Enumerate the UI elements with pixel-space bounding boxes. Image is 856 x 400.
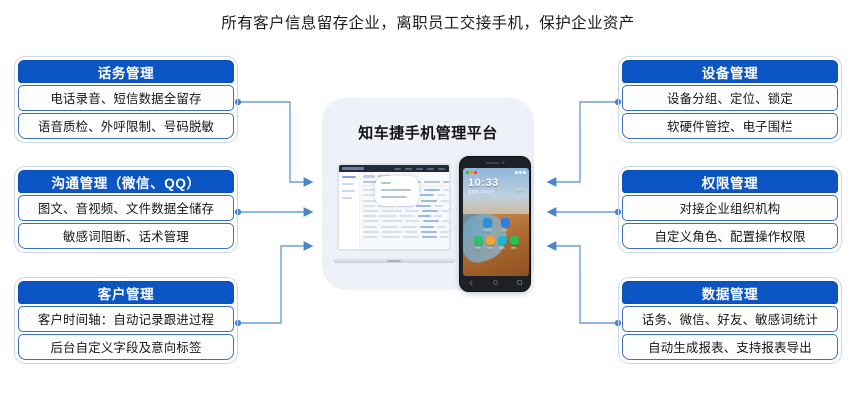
app-browser[interactable]: 浏览器: [483, 218, 492, 232]
phone-screen: 10:33 星期四 8月25日 31°C 浏览器 信息: [463, 168, 529, 276]
feature-item[interactable]: 设备分组、定位、锁定: [622, 85, 838, 111]
feature-box-quanxian-guanli[interactable]: 权限管理 对接企业组织机构 自定义角色、配置操作权限: [622, 170, 838, 249]
info-icon: [501, 218, 510, 227]
phone-dock-row: 电话 短信 相机 微信: [463, 236, 529, 250]
feature-box-huawu-guanli[interactable]: 话务管理 电话录音、短信数据全留存 语音质检、外呼限制、号码脱敏: [18, 60, 234, 139]
feature-box-title: 数据管理: [622, 281, 838, 304]
home-icon[interactable]: [493, 280, 498, 285]
feature-box-shuju-guanli[interactable]: 数据管理 话务、微信、好友、敏感词统计 自动生成报表、支持报表导出: [622, 281, 838, 360]
dashboard-table-row: [363, 236, 451, 238]
feature-item[interactable]: 后台自定义字段及意向标签: [18, 334, 234, 360]
phone-illustration: 10:33 星期四 8月25日 31°C 浏览器 信息: [459, 156, 531, 292]
app-label: 相机: [498, 246, 507, 250]
laptop-notch: [387, 260, 401, 262]
recent-apps-icon[interactable]: [517, 280, 522, 285]
dashboard-table-row: [363, 220, 451, 222]
back-icon[interactable]: [469, 280, 475, 286]
phone-nav-bar: [460, 276, 532, 289]
app-label: 浏览器: [483, 228, 492, 232]
feature-item[interactable]: 语音质检、外呼限制、号码脱敏: [18, 113, 234, 139]
app-info[interactable]: 信息: [501, 218, 510, 232]
phone-app-icons: 浏览器 信息 电话 短信: [463, 218, 529, 254]
dashboard-logo: [342, 167, 364, 170]
phone-icon: [474, 236, 483, 245]
page-title: 所有客户信息留存企业，离职员工交接手机，保护企业资产: [0, 11, 856, 33]
feature-box-title: 话务管理: [18, 60, 234, 83]
phone-weather-widget: 31°C: [516, 178, 524, 196]
browser-icon: [483, 218, 492, 227]
app-label: 信息: [501, 228, 510, 232]
laptop-screen: [337, 163, 451, 251]
app-label: 电话: [474, 246, 483, 250]
wechat-icon: [510, 236, 519, 245]
app-wechat[interactable]: 微信: [510, 236, 519, 250]
dashboard-topbar: [339, 165, 449, 172]
app-label: 短信: [486, 246, 495, 250]
feature-box-goutong-guanli[interactable]: 沟通管理（微信、QQ） 图文、音视频、文件数据全储存 敏感词阻断、话术管理: [18, 170, 234, 249]
phone-earpiece: [486, 161, 505, 164]
status-notification-icons: [466, 171, 477, 174]
feature-box-title: 设备管理: [622, 60, 838, 83]
diagram-canvas: 所有客户信息留存企业，离职员工交接手机，保护企业资产: [0, 0, 856, 400]
app-camera[interactable]: 相机: [498, 236, 507, 250]
phone-temperature: 31°C: [516, 188, 524, 192]
dashboard-popup-bubble: [375, 176, 419, 206]
dashboard-table-row: [363, 215, 451, 217]
dashboard-table-row: [363, 226, 451, 228]
platform-title: 知车捷手机管理平台: [322, 122, 534, 143]
app-label: 微信: [510, 246, 519, 250]
app-phone[interactable]: 电话: [474, 236, 483, 250]
feature-item[interactable]: 敏感词阻断、话术管理: [18, 223, 234, 249]
feature-box-kehu-guanli[interactable]: 客户管理 客户时间轴：自动记录跟进过程 后台自定义字段及意向标签: [18, 281, 234, 360]
phone-clock: 10:33: [468, 178, 499, 189]
feature-item[interactable]: 电话录音、短信数据全留存: [18, 85, 234, 111]
sms-icon: [486, 236, 495, 245]
feature-item[interactable]: 话务、微信、好友、敏感词统计: [622, 306, 838, 332]
dashboard-sidebar: [339, 172, 360, 251]
laptop-illustration: [333, 163, 455, 267]
feature-item[interactable]: 自动生成报表、支持报表导出: [622, 334, 838, 360]
status-signal-icons: [515, 171, 526, 174]
feature-box-shebei-guanli[interactable]: 设备管理 设备分组、定位、锁定 软硬件管控、电子围栏: [622, 60, 838, 139]
dashboard-table-row: [363, 231, 451, 233]
feature-item[interactable]: 图文、音视频、文件数据全储存: [18, 195, 234, 221]
phone-status-bar: [463, 169, 529, 175]
camera-icon: [498, 236, 507, 245]
feature-item[interactable]: 自定义角色、配置操作权限: [622, 223, 838, 249]
feature-box-title: 沟通管理（微信、QQ）: [18, 170, 234, 193]
feature-item[interactable]: 软硬件管控、电子围栏: [622, 113, 838, 139]
phone-app-row: 浏览器 信息: [463, 218, 529, 232]
feature-item[interactable]: 客户时间轴：自动记录跟进过程: [18, 306, 234, 332]
phone-date: 星期四 8月25日: [468, 190, 495, 195]
feature-box-title: 客户管理: [18, 281, 234, 304]
dashboard-table-row: [363, 210, 451, 212]
feature-box-title: 权限管理: [622, 170, 838, 193]
app-sms[interactable]: 短信: [486, 236, 495, 250]
dashboard-menu: [364, 168, 445, 170]
feature-item[interactable]: 对接企业组织机构: [622, 195, 838, 221]
